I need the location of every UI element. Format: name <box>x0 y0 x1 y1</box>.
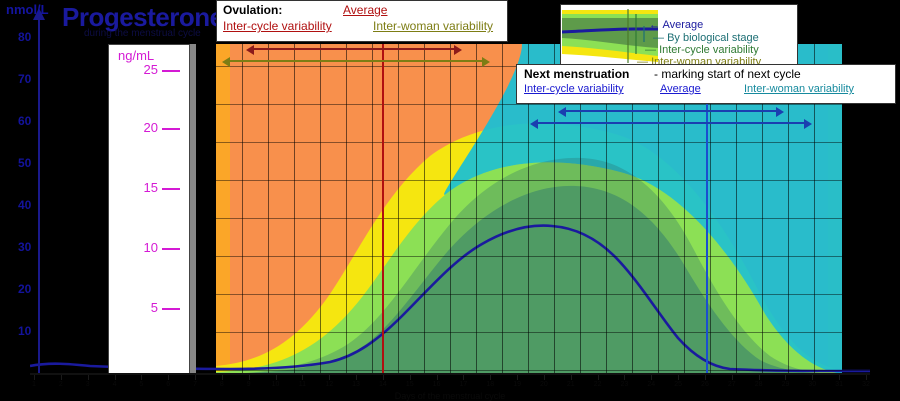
x-axis-tick <box>598 375 599 380</box>
x-axis-tick <box>705 375 706 380</box>
x-axis-tick <box>463 375 464 380</box>
x-axis-tick <box>678 375 679 380</box>
next-menstruation-inter-cycle-label: Inter-cycle variability <box>524 83 624 95</box>
legend-average-arrow-icon: ← <box>649 19 660 31</box>
ovulation-average-label: Average <box>343 3 387 17</box>
ngml-tick-10: 10 <box>118 240 158 255</box>
left-axis-tick-40: 40 <box>18 198 31 212</box>
x-axis-tick-label: 15 <box>406 381 414 388</box>
x-axis-tick <box>249 375 250 380</box>
x-axis-tick-label: 16 <box>433 381 441 388</box>
ovulation-inter-woman-label: Inter-woman variability <box>373 19 493 33</box>
ngml-dash-25 <box>162 70 180 72</box>
next-menstruation-title: Next menstruation <box>524 67 629 81</box>
ovulation-callout-title: Ovulation: <box>223 3 282 17</box>
x-axis-tick-label: 13 <box>352 381 360 388</box>
x-axis-tick <box>168 375 169 380</box>
left-axis-tick-80: 80 <box>18 30 31 44</box>
ovulation-average-marker <box>382 44 384 374</box>
next-menstruation-inter-woman-arrow <box>530 118 812 130</box>
gridline-v <box>268 44 269 374</box>
legend-by-stage-dash-icon: — <box>653 32 664 44</box>
x-axis-tick <box>839 375 840 380</box>
left-axis-tick-70: 70 <box>18 72 31 86</box>
ngml-tick-20: 20 <box>118 120 158 135</box>
x-axis-tick <box>302 375 303 380</box>
gridline-v <box>242 44 243 374</box>
page-subtitle: during the menstrual cycle <box>84 28 201 39</box>
x-axis-tick <box>222 375 223 380</box>
x-axis-tick-label: 9 <box>247 381 251 388</box>
ngml-axis-panel <box>108 44 190 374</box>
x-axis-tick-label: 8 <box>220 381 224 388</box>
gridline-v <box>476 44 477 374</box>
x-axis-tick <box>624 375 625 380</box>
x-axis-tick <box>517 375 518 380</box>
x-axis-tick <box>651 375 652 380</box>
left-axis-tick-20: 20 <box>18 282 31 296</box>
x-axis-tick <box>329 375 330 380</box>
ovulation-inter-woman-arrow <box>222 56 490 68</box>
x-axis-tick <box>383 375 384 380</box>
gridline-v <box>502 44 503 374</box>
x-axis-tick-label: 17 <box>460 381 468 388</box>
x-axis-tick <box>34 375 35 380</box>
x-axis-tick-label: 7 <box>193 381 197 388</box>
x-axis-tick <box>356 375 357 380</box>
next-menstruation-callout: Next menstruation - marking start of nex… <box>516 64 896 104</box>
x-axis-tick <box>437 375 438 380</box>
legend-inter-cycle-label: Inter-cycle variability <box>659 44 759 56</box>
legend-average-label: Average <box>662 19 703 31</box>
ovulation-inter-cycle-label: Inter-cycle variability <box>223 19 332 33</box>
next-menstruation-inter-cycle-arrow <box>558 106 784 118</box>
x-axis-label: Days of the menstrual cycle <box>395 391 506 401</box>
x-axis-tick-label: 30 <box>808 381 816 388</box>
gridline-v <box>450 44 451 374</box>
x-axis-tick-label: 6 <box>166 381 170 388</box>
x-axis-tick <box>115 375 116 380</box>
ngml-axis-edge <box>190 44 196 374</box>
left-axis-tick-30: 30 <box>18 240 31 254</box>
x-axis-tick <box>785 375 786 380</box>
x-axis-tick-label: 20 <box>540 381 548 388</box>
gridline-v <box>320 44 321 374</box>
x-axis-tick <box>490 375 491 380</box>
legend-inter-cycle-row: — Inter-cycle variability <box>645 44 759 56</box>
x-axis-tick-label: 27 <box>728 381 736 388</box>
x-axis-tick <box>759 375 760 380</box>
x-axis-tick-label: 12 <box>325 381 333 388</box>
legend-box: ← Average — By biological stage — Inter-… <box>560 4 798 66</box>
ovulation-callout: Ovulation: Average Inter-cycle variabili… <box>216 0 508 42</box>
right-axis-unit-label: ng/mL <box>118 48 154 63</box>
x-axis-tick <box>812 375 813 380</box>
x-axis-tick <box>732 375 733 380</box>
legend-by-stage-label: By biological stage <box>667 32 759 44</box>
gridline-v <box>294 44 295 374</box>
legend-by-stage-row: — By biological stage <box>653 32 759 44</box>
x-axis-tick-label: 14 <box>379 381 387 388</box>
x-axis-tick-label: 4 <box>113 381 117 388</box>
x-axis-tick-label: 19 <box>513 381 521 388</box>
x-axis-tick-label: 21 <box>567 381 575 388</box>
x-axis-tick-label: 11 <box>299 381 306 388</box>
x-axis-tick <box>141 375 142 380</box>
x-axis-tick-label: 18 <box>486 381 494 388</box>
x-axis-tick-label: 23 <box>621 381 629 388</box>
left-axis-tick-50: 50 <box>18 156 31 170</box>
gridline-v <box>346 44 347 374</box>
x-axis-tick-label: 28 <box>755 381 763 388</box>
x-axis-tick-label: 29 <box>782 381 790 388</box>
ngml-tick-5: 5 <box>118 300 158 315</box>
x-axis-tick <box>410 375 411 380</box>
x-axis-tick-label: 2 <box>59 381 63 388</box>
x-axis-tick-label: 1 <box>32 381 36 388</box>
left-axis-line <box>38 14 40 374</box>
ngml-dash-10 <box>162 248 180 250</box>
x-axis-tick-label: 31 <box>835 381 843 388</box>
x-axis-tick <box>88 375 89 380</box>
ngml-dash-15 <box>162 188 180 190</box>
gridline-v <box>398 44 399 374</box>
ngml-tick-15: 15 <box>118 180 158 195</box>
x-axis-tick-label: 25 <box>674 381 682 388</box>
x-axis-tick <box>195 375 196 380</box>
left-axis-tick-60: 60 <box>18 114 31 128</box>
next-menstruation-average-label: Average <box>660 83 701 95</box>
ngml-dash-5 <box>162 308 180 310</box>
x-axis-tick <box>571 375 572 380</box>
x-axis-tick <box>276 375 277 380</box>
ngml-dash-20 <box>162 128 180 130</box>
x-axis-tick-label: 10 <box>272 381 280 388</box>
x-axis-tick <box>866 375 867 380</box>
x-axis-line <box>30 373 870 375</box>
x-axis-tick-label: 26 <box>701 381 709 388</box>
left-axis-tick-10: 10 <box>18 324 31 338</box>
left-axis-unit-label: nmol/L <box>6 2 49 17</box>
x-axis-tick-label: 22 <box>594 381 602 388</box>
x-axis-tick <box>544 375 545 380</box>
x-axis-tick-label: 24 <box>647 381 655 388</box>
legend-inter-cycle-dash-icon: — <box>645 44 656 56</box>
x-axis-tick-label: 32 <box>862 381 870 388</box>
next-menstruation-inter-woman-label: Inter-woman variability <box>744 83 854 95</box>
legend-average-row: ← Average <box>649 19 703 31</box>
gridline-v <box>424 44 425 374</box>
x-axis-tick-label: 5 <box>139 381 143 388</box>
x-axis-tick <box>61 375 62 380</box>
ovulation-inter-cycle-arrow <box>246 44 462 56</box>
gridline-v <box>372 44 373 374</box>
ngml-tick-25: 25 <box>118 62 158 77</box>
left-axis <box>0 0 62 380</box>
next-menstruation-subtitle: - marking start of next cycle <box>654 67 801 81</box>
x-axis-tick-label: 3 <box>86 381 90 388</box>
